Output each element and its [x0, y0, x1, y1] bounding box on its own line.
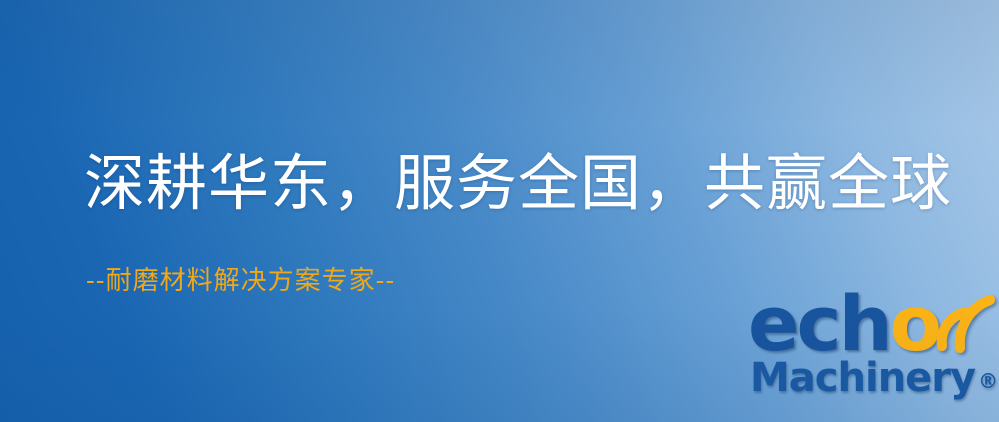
registered-trademark-symbol: ®	[978, 369, 998, 393]
company-logo[interactable]: echo Machinery®	[746, 292, 999, 422]
page-subtitle: --耐磨材料解决方案专家--	[86, 266, 395, 297]
logo-tagline-text: Machinery	[750, 355, 975, 401]
page-title: 深耕华东，服务全国，共赢全球	[84, 152, 952, 216]
logo-echo-text: echo	[748, 286, 941, 362]
signal-wave-icon	[934, 290, 998, 352]
logo-tagline: Machinery®	[750, 358, 998, 398]
hero-banner: 深耕华东，服务全国，共赢全球 --耐磨材料解决方案专家-- echo Machi…	[0, 0, 999, 422]
